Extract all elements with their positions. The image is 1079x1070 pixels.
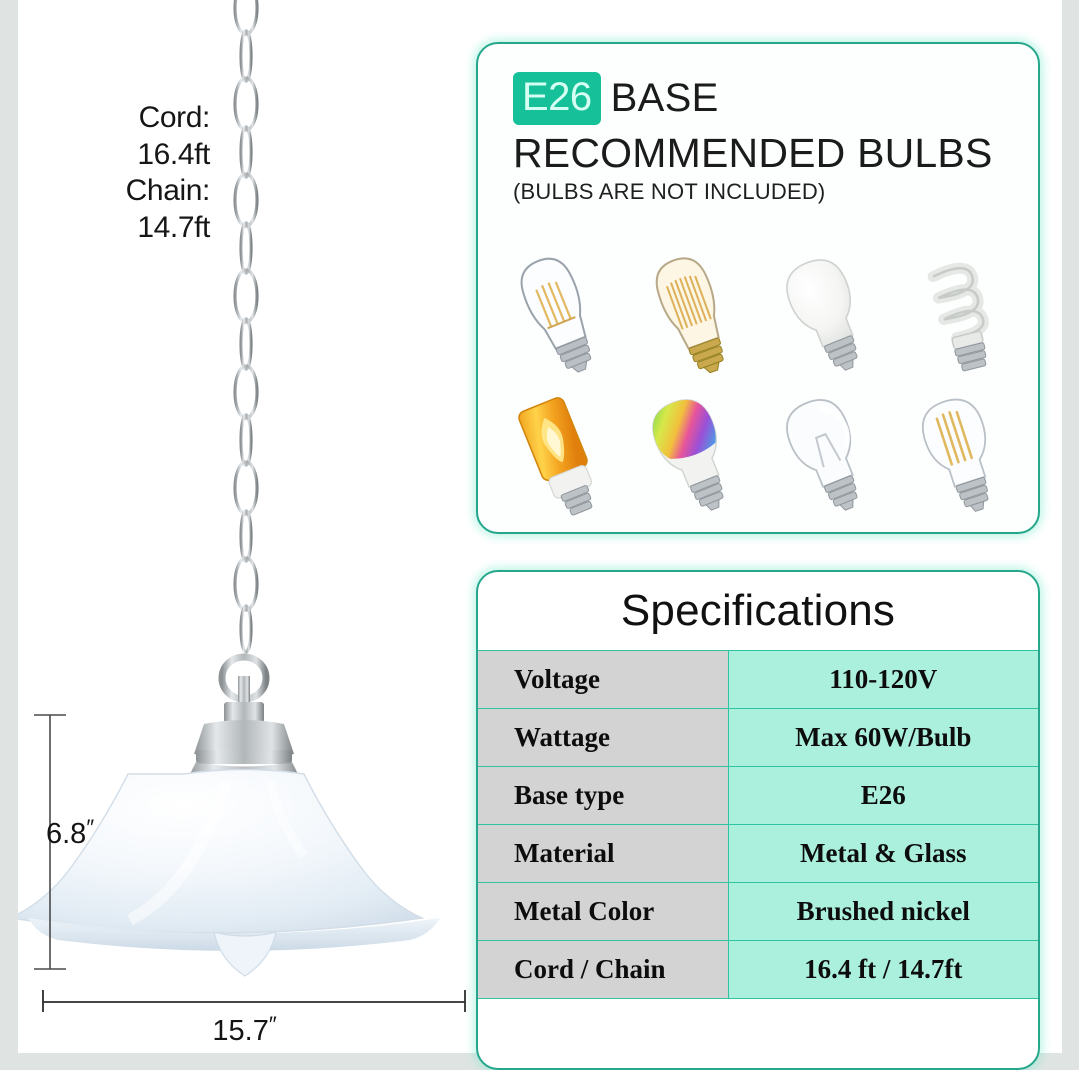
spec-label-cell: Material — [478, 825, 728, 883]
specifications-title: Specifications — [478, 572, 1038, 650]
specifications-card: Specifications Voltage 110-120V Wattage … — [476, 570, 1040, 1070]
info-cards-column: E26 BASE RECOMMENDED BULBS (BULBS ARE NO… — [472, 0, 1062, 1053]
infographic-page: Cord: 16.4ft Chain: 14.7ft — [0, 0, 1079, 1053]
e26-badge: E26 — [513, 72, 601, 125]
chain-icon — [218, 0, 274, 684]
cord-chain-dimension-label: Cord: 16.4ft Chain: 14.7ft — [60, 100, 210, 246]
flame-effect-bulb-icon — [499, 389, 619, 519]
spec-label-cell: Voltage — [478, 651, 728, 709]
st64-edison-filament-bulb-amber-icon — [633, 249, 753, 379]
bulb-item — [894, 244, 1028, 384]
chain-title: Chain: — [60, 173, 210, 210]
table-row: Voltage 110-120V — [478, 651, 1038, 709]
bulb-item — [760, 244, 894, 384]
table-row: Cord / Chain 16.4 ft / 14.7ft — [478, 941, 1038, 999]
product-photo-panel: Cord: 16.4ft Chain: 14.7ft — [18, 0, 470, 1053]
bulb-item — [894, 384, 1028, 524]
height-dimension-text: 6.8″ — [46, 815, 93, 851]
bulb-item — [492, 384, 626, 524]
base-word: BASE — [611, 76, 719, 121]
bulb-item — [760, 384, 894, 524]
recommended-bulbs-card: E26 BASE RECOMMENDED BULBS (BULBS ARE NO… — [476, 42, 1040, 534]
table-row: Metal Color Brushed nickel — [478, 883, 1038, 941]
spec-value-cell: Brushed nickel — [728, 883, 1038, 941]
height-value: 6.8 — [46, 818, 86, 850]
spec-value-cell: 110-120V — [728, 651, 1038, 709]
width-dimension-line — [40, 988, 468, 1014]
bulb-thumbnail-grid — [492, 244, 1028, 524]
spec-value-cell: E26 — [728, 767, 1038, 825]
table-row: Material Metal & Glass — [478, 825, 1038, 883]
spec-label-cell: Wattage — [478, 709, 728, 767]
a19-frosted-led-bulb-icon — [767, 249, 887, 379]
recommended-bulbs-title: RECOMMENDED BULBS — [513, 130, 1023, 177]
bulb-item — [626, 384, 760, 524]
specifications-table: Voltage 110-120V Wattage Max 60W/Bulb Ba… — [478, 650, 1038, 999]
width-dimension-text: 15.7″ — [18, 1012, 470, 1048]
chain-value: 14.7ft — [60, 210, 210, 247]
a19-clear-incandescent-bulb-icon — [767, 389, 887, 519]
spec-label-cell: Cord / Chain — [478, 941, 728, 999]
bulb-item — [492, 244, 626, 384]
a19-clear-filament-led-bulb-icon — [901, 389, 1021, 519]
cord-value: 16.4ft — [60, 137, 210, 174]
hanging-chain — [218, 0, 274, 684]
bulb-item — [626, 244, 760, 384]
height-dimension-line: 6.8″ — [26, 712, 118, 972]
cord-title: Cord: — [60, 100, 210, 137]
dimension-arrow-horizontal — [40, 988, 468, 1014]
specifications-table-body: Voltage 110-120V Wattage Max 60W/Bulb Ba… — [478, 651, 1038, 999]
spiral-cfl-bulb-icon — [901, 249, 1021, 379]
table-row: Base type E26 — [478, 767, 1038, 825]
rgb-color-changing-smart-bulb-icon — [633, 389, 753, 519]
table-row: Wattage Max 60W/Bulb — [478, 709, 1038, 767]
width-value: 15.7 — [212, 1015, 268, 1047]
spec-label-cell: Metal Color — [478, 883, 728, 941]
bulbs-not-included-note: (BULBS ARE NOT INCLUDED) — [513, 179, 1023, 205]
spec-label-cell: Base type — [478, 767, 728, 825]
spec-value-cell: Metal & Glass — [728, 825, 1038, 883]
st64-edison-filament-bulb-clear-icon — [499, 249, 619, 379]
spec-value-cell: 16.4 ft / 14.7ft — [728, 941, 1038, 999]
height-unit: ″ — [86, 815, 93, 840]
spec-value-cell: Max 60W/Bulb — [728, 709, 1038, 767]
width-unit: ″ — [269, 1012, 276, 1037]
recommended-bulbs-heading: E26 BASE RECOMMENDED BULBS (BULBS ARE NO… — [513, 72, 1023, 205]
e26-base-line: E26 BASE — [513, 72, 1023, 125]
